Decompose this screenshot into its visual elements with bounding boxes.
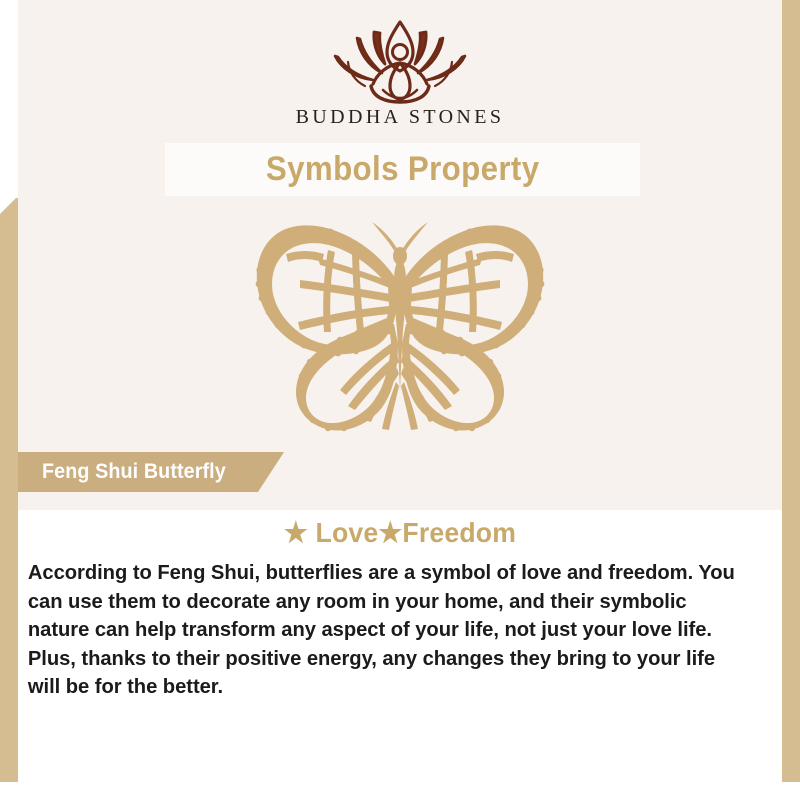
lotus-meditation-icon <box>305 16 495 108</box>
feng-shui-tag: Feng Shui Butterfly <box>18 452 284 492</box>
brand-name: BUDDHA STONES <box>296 106 505 129</box>
frame-left-accent <box>0 198 20 782</box>
page-title: Symbols Property <box>266 150 540 189</box>
butterfly-illustration <box>18 210 782 445</box>
page-title-band: Symbols Property <box>165 143 640 196</box>
frame-right-accent <box>782 0 800 782</box>
feng-shui-tag-label: Feng Shui Butterfly <box>42 460 226 484</box>
page-root: BUDDHA STONES Symbols Property <box>0 0 800 800</box>
description-paragraph: According to Feng Shui, butterflies are … <box>18 549 771 702</box>
butterfly-icon <box>220 220 580 435</box>
love-freedom-subheading: ★ Love★Freedom <box>37 510 763 549</box>
brand-logo: BUDDHA STONES <box>18 16 782 140</box>
description-panel: ★ Love★Freedom According to Feng Shui, b… <box>18 510 782 782</box>
content-card: BUDDHA STONES Symbols Property <box>18 0 782 782</box>
